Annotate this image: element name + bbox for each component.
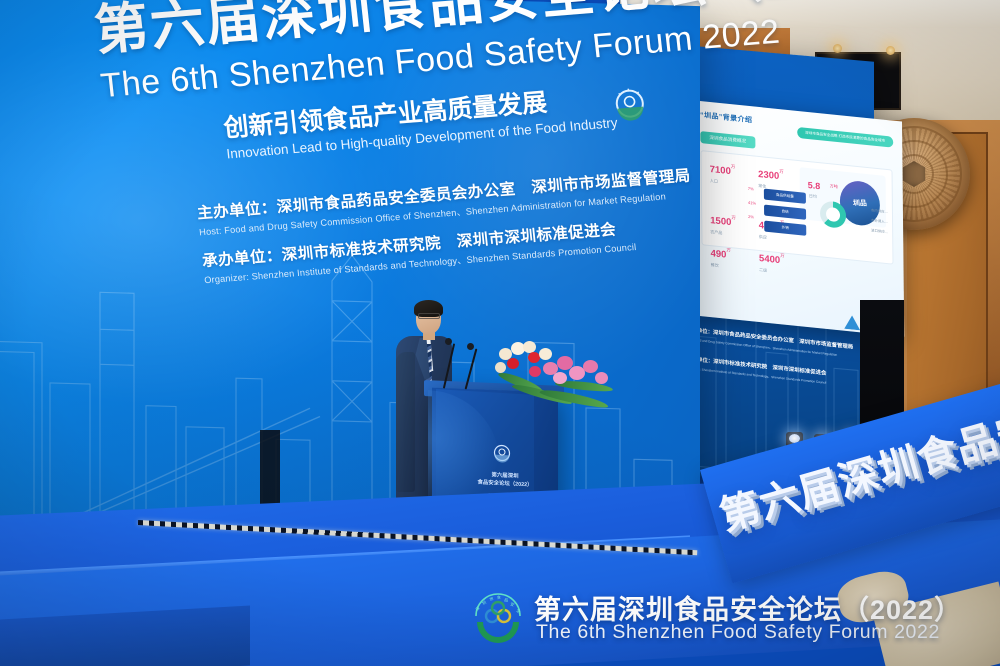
flower-accent bbox=[529, 366, 541, 377]
svg-text:深: 深 bbox=[474, 605, 481, 612]
flower-rose bbox=[495, 362, 506, 373]
svg-text:全: 全 bbox=[515, 607, 522, 614]
backdrop-text-layer: 第六届深圳食品安全论坛（2022） The 6th Shenzhen Food … bbox=[0, 0, 720, 565]
stat-unit: 万 bbox=[731, 164, 736, 169]
speaker-arm bbox=[396, 352, 415, 492]
watermark-bar: 深 圳 市 食 品 安 全 第六届深圳食品安全论坛（2022） The 6th … bbox=[470, 588, 990, 654]
bar-pct: 7% bbox=[748, 186, 754, 192]
bar-pct: 2% bbox=[748, 214, 754, 220]
svg-text:市: 市 bbox=[489, 595, 494, 602]
photo-stage: “圳品”背景介绍 深圳市食品安全战略 打造市民满意的食品安全城市 深圳食品消费概… bbox=[0, 0, 1000, 666]
slide-bar-group: 食品供给量 自给 外销 bbox=[764, 189, 807, 241]
flower-lily-pink bbox=[553, 372, 567, 384]
stat-label: 二级 bbox=[759, 267, 803, 277]
bar-label: 外销 bbox=[764, 221, 806, 236]
slide-legend: 市内供应… 市外调入… 进口供应… bbox=[871, 205, 888, 237]
flower-lily-pink bbox=[595, 372, 608, 384]
svg-text:食: 食 bbox=[497, 594, 501, 600]
circle-label: 圳品 bbox=[853, 198, 868, 209]
watermark-title-en: The 6th Shenzhen Food Safety Forum 2022 bbox=[536, 621, 940, 644]
highlight-value: 5.8 bbox=[808, 180, 821, 191]
stat-value: 5400 bbox=[759, 253, 780, 266]
ceiling-spot-light bbox=[886, 46, 895, 55]
podium-emblem-icon bbox=[490, 441, 514, 466]
shenzhen-food-safety-logo-icon: 深 圳 市 食 品 安 全 bbox=[470, 592, 526, 646]
stat-value: 2300 bbox=[758, 169, 779, 182]
highlight-unit: 万吨 bbox=[830, 183, 838, 190]
stat-unit: 万 bbox=[726, 247, 731, 252]
flower-rose-red bbox=[507, 358, 519, 369]
ceiling-spot-light bbox=[833, 44, 842, 53]
speaker-glasses bbox=[418, 313, 440, 319]
highlight-label: 日均 bbox=[809, 193, 817, 200]
backdrop-organizer-block: 主办单位：深圳市食品药品安全委员会办公室 深圳市市场监督管理局 Host: Fo… bbox=[196, 162, 723, 298]
legend-item: 进口供应… bbox=[871, 225, 888, 237]
flower-lily-pink bbox=[583, 360, 598, 373]
backdrop-emblem-icon bbox=[606, 82, 654, 129]
slide-stats-card: 7100万 人口 2300万 常住 5.8 万吨 日均 圳品 1500万 农产品 bbox=[701, 150, 894, 265]
flower-rose bbox=[539, 348, 552, 360]
svg-text:品: 品 bbox=[504, 597, 509, 603]
flower-bouquet bbox=[495, 338, 625, 418]
stat-unit: 万 bbox=[731, 215, 736, 220]
svg-text:圳: 圳 bbox=[481, 599, 487, 606]
stat-item: 5400万 二级 bbox=[759, 248, 803, 278]
bar-pct: 41% bbox=[748, 200, 756, 206]
microphone-head bbox=[445, 338, 452, 345]
microphone-head bbox=[467, 343, 474, 350]
stat-unit: 万 bbox=[780, 253, 785, 258]
bar-label: 自给 bbox=[764, 205, 806, 220]
stat-unit: 万 bbox=[779, 169, 784, 174]
